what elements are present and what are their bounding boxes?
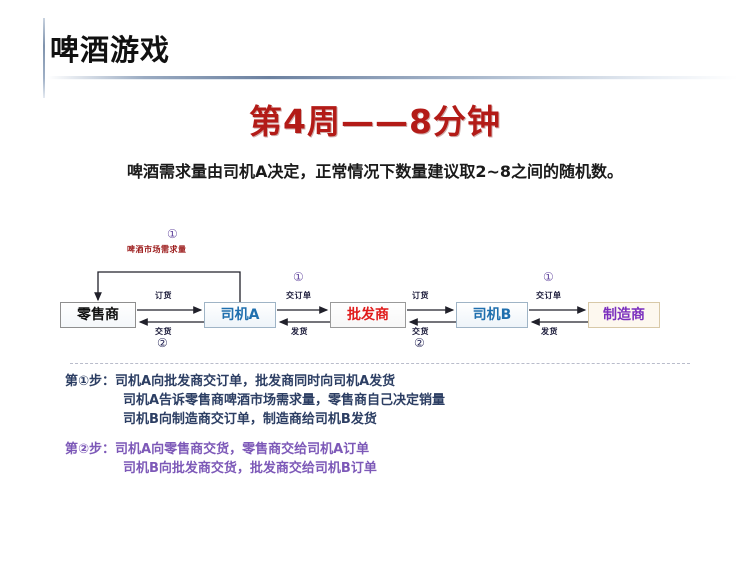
flow-circled-number-driverB-factory: ① (543, 270, 554, 284)
flow-label-driverA-wholesaler-ship: 发货 (291, 326, 308, 337)
flow-label-driverB-factory-ship: 发货 (541, 326, 558, 337)
step-2-line-2-text: 司机B向批发商交货，批发商交给司机B订单 (0, 459, 377, 478)
step-1-line-2-text: 司机A告诉零售商啤酒市场需求量，零售商自己决定销量 (0, 391, 445, 410)
feedback-demand-label: 啤酒市场需求量 (127, 244, 187, 255)
flow-label-driverA-wholesaler-order: 交订单 (286, 290, 312, 301)
flow-circled-number-wholesaler-driverB: ② (414, 336, 425, 350)
step-1-lead-line: 第①步：司机A向批发商交订单，批发商同时向司机A发货 (0, 372, 750, 391)
supply-chain-diagram: ① 啤酒市场需求量 零售商 司机A 批发商 司机B 制造商 订货 交货 ② ① … (0, 218, 750, 368)
section-divider (70, 363, 690, 364)
header-horizontal-divider-shadow (48, 79, 738, 80)
step-2-lead-line: 第②步：司机A向零售商交货，零售商交给司机A订单 (0, 440, 750, 459)
header-vertical-accent-line (43, 18, 45, 98)
slide-canvas: 啤酒游戏 第4周——8分钟 啤酒需求量由司机A决定，正常情况下数量建议取2~8之… (0, 0, 750, 562)
flow-circled-number-driverA-wholesaler: ① (293, 270, 304, 284)
step-1-line-2: 司机A告诉零售商啤酒市场需求量，零售商自己决定销量 (0, 391, 750, 410)
page-title: 啤酒游戏 (50, 27, 170, 69)
flow-label-retailer-driverA-order: 订货 (155, 290, 172, 301)
steps-list: 第①步：司机A向批发商交订单，批发商同时向司机A发货 司机A告诉零售商啤酒市场需… (0, 372, 750, 489)
node-wholesaler[interactable]: 批发商 (330, 302, 406, 328)
flow-circled-number-retailer-driverA: ② (157, 336, 168, 350)
flow-label-wholesaler-driverB-order: 订货 (412, 290, 429, 301)
flow-label-driverB-factory-order: 交订单 (536, 290, 562, 301)
step-2-lead-text: 第②步：司机A向零售商交货，零售商交给司机A订单 (0, 440, 369, 459)
subtitle-text: 啤酒需求量由司机A决定，正常情况下数量建议取2~8之间的随机数。 (0, 158, 750, 182)
week-heading: 第4周——8分钟 (0, 95, 750, 143)
step-1-line-3-text: 司机B向制造商交订单，制造商给司机B发货 (0, 410, 377, 429)
step-2-line-2: 司机B向批发商交货，批发商交给司机B订单 (0, 459, 750, 478)
step-1-line-3: 司机B向制造商交订单，制造商给司机B发货 (0, 410, 750, 429)
feedback-circled-number: ① (167, 227, 178, 241)
step-1-lead-text: 第①步：司机A向批发商交订单，批发商同时向司机A发货 (0, 372, 395, 391)
node-driver-b[interactable]: 司机B (456, 302, 528, 328)
step-block-2: 第②步：司机A向零售商交货，零售商交给司机A订单 司机B向批发商交货，批发商交给… (0, 440, 750, 478)
step-block-1: 第①步：司机A向批发商交订单，批发商同时向司机A发货 司机A告诉零售商啤酒市场需… (0, 372, 750, 429)
node-driver-a[interactable]: 司机A (204, 302, 276, 328)
node-factory[interactable]: 制造商 (588, 302, 660, 328)
diagram-connector-lines (0, 218, 750, 368)
node-retailer[interactable]: 零售商 (60, 302, 136, 328)
